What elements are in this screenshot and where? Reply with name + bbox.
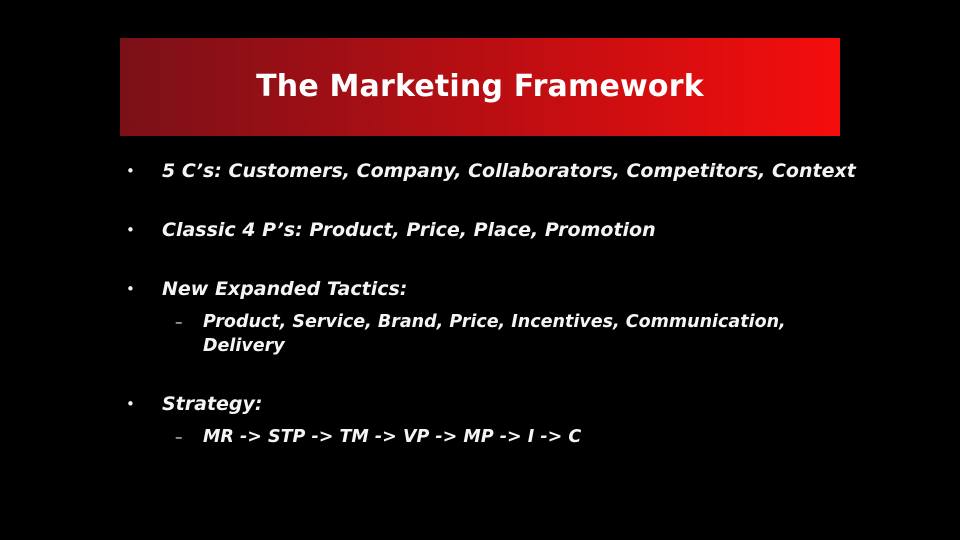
bullet-list: • 5 C’s: Customers, Company, Collaborato…	[120, 158, 860, 449]
list-item: • 5 C’s: Customers, Company, Collaborato…	[120, 158, 860, 184]
bullet-marker-icon: •	[120, 217, 162, 243]
list-item-label: 5 C’s: Customers, Company, Collaborators…	[162, 158, 860, 184]
list-item: • Classic 4 P’s: Product, Price, Place, …	[120, 217, 860, 243]
page-title: The Marketing Framework	[256, 72, 704, 102]
sub-list-item: – Product, Service, Brand, Price, Incent…	[120, 310, 860, 358]
list-item-label: Strategy:	[162, 391, 860, 417]
sub-list-item-label: Product, Service, Brand, Price, Incentiv…	[203, 310, 803, 358]
list-item: • New Expanded Tactics:	[120, 276, 860, 302]
slide-canvas: The Marketing Framework • 5 C’s: Custome…	[0, 0, 960, 540]
list-item: • Strategy:	[120, 391, 860, 417]
bullet-marker-icon: •	[120, 276, 162, 302]
title-banner: The Marketing Framework	[120, 38, 840, 136]
bullet-marker-icon: •	[120, 391, 162, 417]
list-item-label: New Expanded Tactics:	[162, 276, 860, 302]
subbullet-marker-icon: –	[120, 310, 203, 334]
sub-list-item: – MR -> STP -> TM -> VP -> MP -> I -> C	[120, 425, 860, 449]
bullet-marker-icon: •	[120, 158, 162, 184]
list-item-label: Classic 4 P’s: Product, Price, Place, Pr…	[162, 217, 860, 243]
sub-list-item-label: MR -> STP -> TM -> VP -> MP -> I -> C	[203, 425, 803, 449]
subbullet-marker-icon: –	[120, 425, 203, 449]
